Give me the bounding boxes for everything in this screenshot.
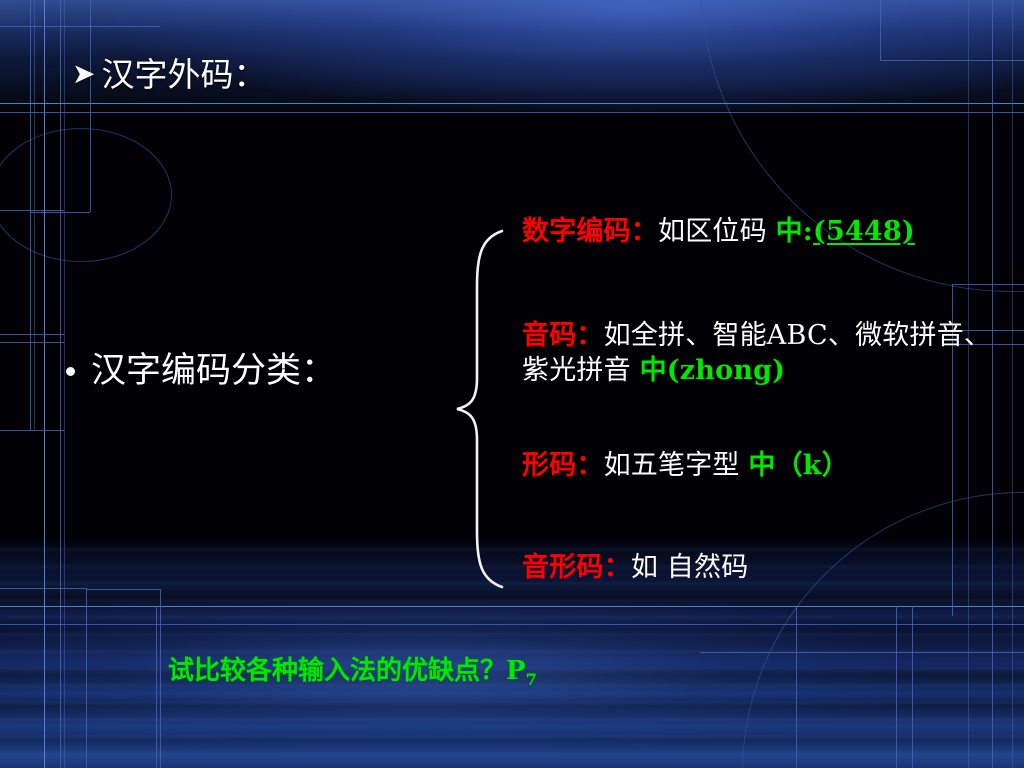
code-sample-prefix: 中: xyxy=(776,216,813,247)
blueprint-line-v-64 xyxy=(64,0,65,768)
blueprint-line-v-33 xyxy=(34,0,35,430)
blueprint-line-v-896-bottom xyxy=(896,606,897,768)
blueprint-line-h-624 xyxy=(0,624,1024,625)
blueprint-line-h-103 xyxy=(0,103,1024,104)
blueprint-line-v-156-bottom xyxy=(156,606,157,768)
code-category-value: 如 自然码 xyxy=(631,552,749,583)
code-sample-value: （k） xyxy=(776,450,849,481)
code-category-key: 形码： xyxy=(522,450,604,481)
blueprint-line-v-60 xyxy=(60,0,61,768)
blueprint-line-h-589-box xyxy=(86,589,160,590)
blueprint-circle-top-left xyxy=(0,128,172,262)
footnote-subscript: 7 xyxy=(526,670,537,689)
code-sample-value: (zhong) xyxy=(667,355,785,386)
blueprint-line-v-90-top xyxy=(90,0,91,212)
blueprint-line-v-30 xyxy=(30,0,31,430)
code-category-key: 数字编码： xyxy=(522,216,658,247)
code-category-value: 如五笔字型 xyxy=(604,450,749,481)
code-category-key: 音形码： xyxy=(522,552,631,583)
footnote-text: 试比较各种输入法的优缺点？P xyxy=(168,656,526,686)
blueprint-line-h-334b xyxy=(0,342,64,343)
blueprint-line-h-430 xyxy=(0,430,64,431)
blueprint-line-v-44 xyxy=(44,0,45,768)
blueprint-line-v-86-bottom xyxy=(86,588,87,768)
slide-title-text: 汉字外码： xyxy=(101,58,266,91)
code-category-item: 音码：如全拼、智能ABC、微软拼音、紫光拼音 中(zhong) xyxy=(522,318,992,388)
blueprint-line-v-796-bottom xyxy=(796,606,797,768)
blueprint-line-v-912-bottom xyxy=(912,606,913,768)
blueprint-line-h-26 xyxy=(0,26,160,27)
blueprint-line-h-212-left xyxy=(30,212,90,213)
blueprint-line-v-1012 xyxy=(1012,0,1013,768)
blueprint-line-h-60-right xyxy=(880,60,1024,61)
code-sample-prefix: 中 xyxy=(640,355,667,386)
code-sample-value: (5448) xyxy=(813,216,915,247)
slide-title: ➤ 汉字外码： xyxy=(72,58,266,91)
curly-brace-icon xyxy=(452,228,508,590)
blueprint-line-h-652-right xyxy=(700,652,1024,653)
background-top-sheen xyxy=(0,0,1024,58)
blueprint-circle-bottom-right xyxy=(742,492,1024,768)
blueprint-line-h-284-right xyxy=(952,284,1024,285)
blueprint-line-v-160-bottom xyxy=(160,589,161,768)
code-category-item: 数字编码：如区位码 中:(5448) xyxy=(522,214,915,249)
blueprint-line-h-112 xyxy=(0,112,1024,113)
blueprint-line-v-880-top xyxy=(880,0,881,60)
round-bullet-icon xyxy=(66,367,75,376)
bullet-item-label: 汉字编码分类： xyxy=(91,352,336,391)
code-category-item: 音形码：如 自然码 xyxy=(522,550,748,585)
presentation-slide: ➤ 汉字外码： 汉字编码分类： 数字编码：如区位码 中:(5448) 音码：如全… xyxy=(0,0,1024,768)
footnote-question: 试比较各种输入法的优缺点？P7 xyxy=(168,650,537,689)
blueprint-line-h-606 xyxy=(0,606,1024,607)
blueprint-line-h-210 xyxy=(0,210,64,211)
code-category-value: 如区位码 xyxy=(658,216,776,247)
arrow-bullet-icon: ➤ xyxy=(72,60,95,88)
blueprint-line-h-588 xyxy=(0,588,86,589)
code-category-key: 音码： xyxy=(522,320,604,351)
bullet-item-classification: 汉字编码分类： xyxy=(66,352,336,391)
blueprint-line-v-992 xyxy=(992,0,993,768)
code-category-item: 形码：如五笔字型 中（k） xyxy=(522,448,849,483)
blueprint-line-h-334a xyxy=(0,334,64,335)
code-sample-prefix: 中 xyxy=(748,450,775,481)
